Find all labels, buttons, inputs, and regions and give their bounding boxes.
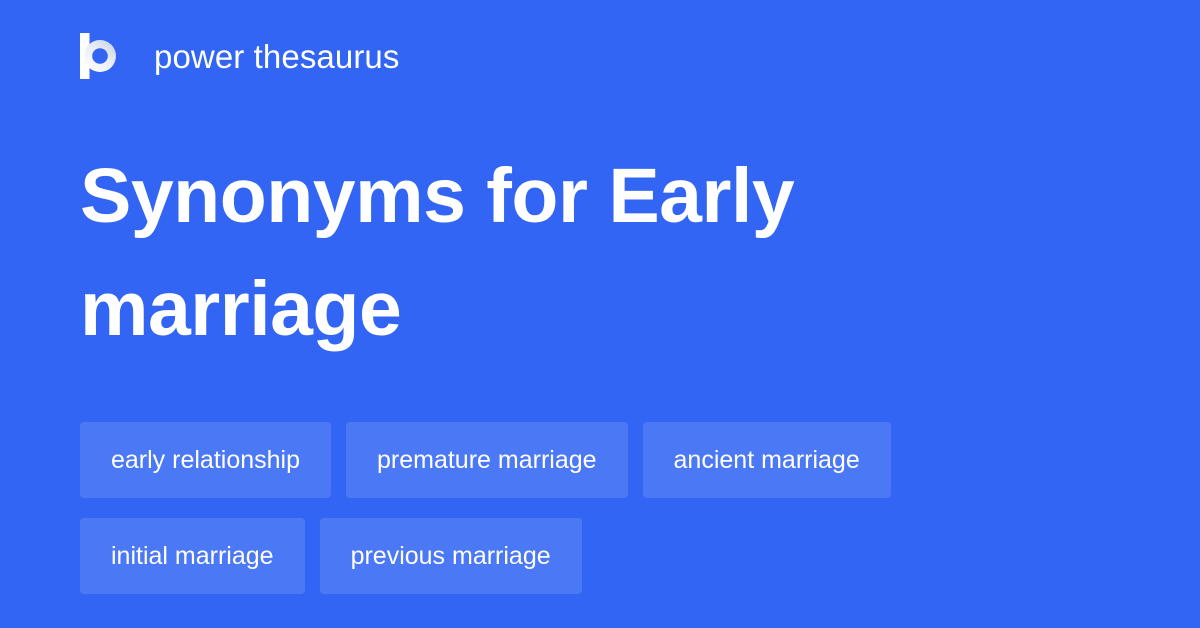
- page-title: Synonyms for Early marriage: [80, 140, 980, 366]
- synonym-chip[interactable]: early relationship: [80, 422, 331, 498]
- power-thesaurus-b-logo-icon: [80, 33, 122, 79]
- brand-name-label: power thesaurus: [154, 40, 399, 73]
- synonym-chip-list: early relationship premature marriage an…: [80, 422, 1120, 594]
- synonym-chip[interactable]: ancient marriage: [643, 422, 891, 498]
- brand-header[interactable]: power thesaurus: [80, 30, 399, 82]
- synonym-chip[interactable]: previous marriage: [320, 518, 582, 594]
- synonym-chip[interactable]: initial marriage: [80, 518, 305, 594]
- synonym-chip[interactable]: premature marriage: [346, 422, 628, 498]
